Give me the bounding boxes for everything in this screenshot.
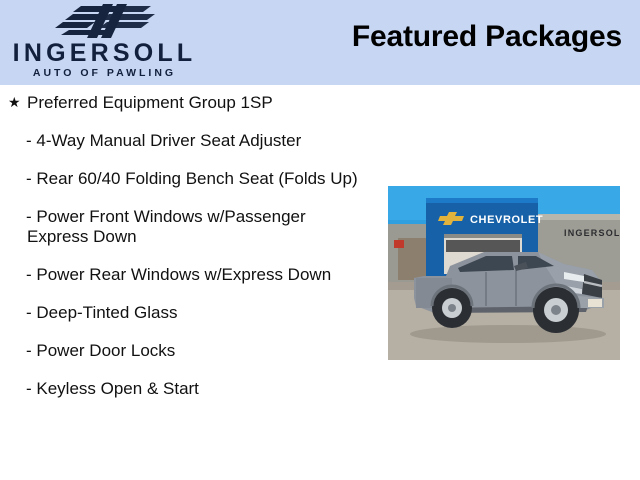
feature-group-label: Preferred Equipment Group 1SP (27, 93, 273, 112)
list-item: - Power Front Windows w/Passenger Expres… (0, 207, 372, 247)
list-item: - Keyless Open & Start (0, 379, 372, 399)
header-band: INGERSOLL AUTO OF PAWLING Featured Packa… (0, 0, 640, 85)
feature-group-heading: ★ Preferred Equipment Group 1SP (0, 85, 372, 113)
dealer-signage-text: CHEVROLET (470, 214, 543, 226)
list-item: - Rear 60/40 Folding Bench Seat (Folds U… (0, 169, 372, 189)
list-item: - 4-Way Manual Driver Seat Adjuster (0, 131, 372, 151)
page-title: Featured Packages (352, 20, 622, 54)
list-item: - Deep-Tinted Glass (0, 303, 372, 323)
ingersoll-wing-emblem-icon (47, 2, 159, 40)
building-signage-text: INGERSOLL (564, 228, 620, 238)
brand-name: INGERSOLL (0, 40, 205, 67)
list-item: - Power Rear Windows w/Express Down (0, 265, 372, 285)
list-item: - Power Door Locks (0, 341, 372, 361)
star-bullet-icon: ★ (8, 92, 21, 113)
feature-list: ★ Preferred Equipment Group 1SP - 4-Way … (0, 85, 372, 399)
brand-tagline: AUTO OF PAWLING (0, 67, 205, 80)
vehicle-photo: INGERSOLL CHEVROLET (388, 186, 620, 360)
brand-logo: INGERSOLL AUTO OF PAWLING (0, 2, 205, 80)
